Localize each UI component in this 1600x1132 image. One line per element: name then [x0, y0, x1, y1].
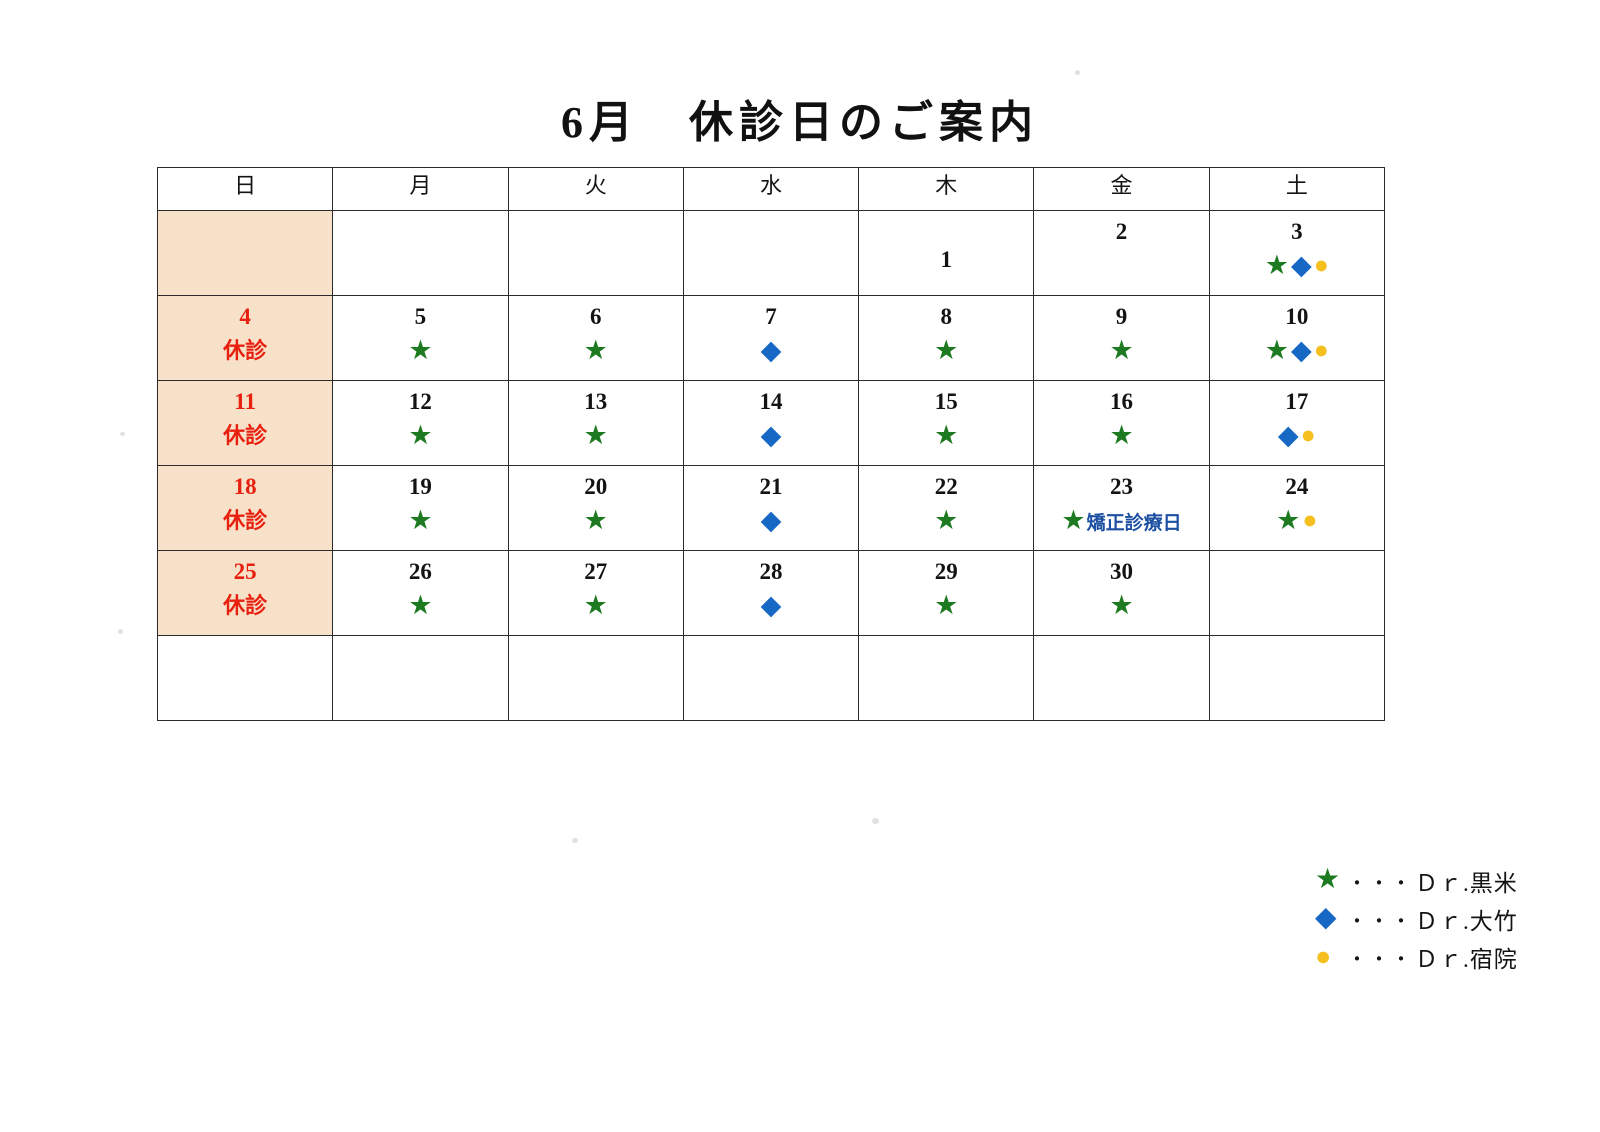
diamond-icon: ◆	[761, 337, 782, 364]
doctor-marks: ★	[333, 413, 507, 453]
doctor-marks: ★	[509, 583, 683, 623]
doctor-marks: ★	[859, 498, 1033, 538]
calendar-day-cell: 15★	[859, 381, 1034, 466]
calendar-day-cell: 23★矯正診療日	[1034, 466, 1209, 551]
day-number: 24	[1210, 466, 1384, 498]
calendar-empty-cell	[508, 636, 683, 721]
calendar-day-cell: 20★	[508, 466, 683, 551]
scan-speckle	[118, 629, 123, 634]
doctor-marks: ★●	[1210, 498, 1384, 538]
star-icon: ★	[1109, 337, 1133, 364]
star-icon: ★	[408, 507, 432, 534]
doctor-marks: ◆	[684, 583, 858, 623]
calendar-day-cell: 6★	[508, 296, 683, 381]
weekday-header-mon: 月	[333, 168, 508, 211]
doctor-marks: ★	[1034, 583, 1208, 623]
star-icon: ★	[934, 337, 958, 364]
calendar-day-cell: 5★	[333, 296, 508, 381]
star-icon: ★	[934, 592, 958, 619]
day-number: 6	[509, 296, 683, 328]
day-number: 11	[158, 381, 332, 413]
closed-label: 休診	[158, 413, 332, 447]
legend-label: Ｄｒ.宿院	[1415, 940, 1518, 974]
legend-dots: ・・・	[1345, 867, 1415, 896]
calendar-day-cell: 9★	[1034, 296, 1209, 381]
calendar-day-cell: 3★◆●	[1209, 211, 1384, 296]
star-icon: ★	[584, 422, 608, 449]
star-icon: ★	[1265, 337, 1289, 364]
day-number: 28	[684, 551, 858, 583]
weekday-header-wed: 水	[683, 168, 858, 211]
star-icon: ★	[408, 592, 432, 619]
scan-speckle	[1075, 70, 1080, 75]
calendar-day-cell: 16★	[1034, 381, 1209, 466]
legend-row: ●・・・Ｄｒ.宿院	[1315, 938, 1565, 976]
calendar-week-row	[158, 636, 1385, 721]
calendar-day-cell: 1	[859, 211, 1034, 296]
weekday-header-tue: 火	[508, 168, 683, 211]
day-number: 15	[859, 381, 1033, 413]
calendar-day-cell: 22★	[859, 466, 1034, 551]
diamond-icon: ◆	[1278, 422, 1299, 449]
calendar-week-row: 4休診5★6★7◆8★9★10★◆●	[158, 296, 1385, 381]
day-number: 3	[1210, 211, 1384, 243]
calendar-day-cell: 30★	[1034, 551, 1209, 636]
calendar-empty-cell	[1209, 636, 1384, 721]
doctor-marks: ★	[859, 328, 1033, 368]
day-number: 14	[684, 381, 858, 413]
calendar-body: 123★◆●4休診5★6★7◆8★9★10★◆●11休診12★13★14◆15★…	[158, 211, 1385, 721]
star-icon: ★	[1109, 422, 1133, 449]
day-number: 2	[1034, 211, 1208, 243]
weekday-header-row: 日 月 火 水 木 金 土	[158, 168, 1385, 211]
calendar-day-cell: 19★	[333, 466, 508, 551]
calendar-empty-cell	[333, 211, 508, 296]
doctor-marks: ★	[333, 328, 507, 368]
calendar-empty-cell	[158, 211, 333, 296]
calendar-week-row: 11休診12★13★14◆15★16★17◆●	[158, 381, 1385, 466]
day-number: 26	[333, 551, 507, 583]
doctor-marks: ★	[1034, 328, 1208, 368]
circle-icon: ●	[1314, 253, 1329, 278]
calendar-empty-cell	[683, 211, 858, 296]
day-number: 7	[684, 296, 858, 328]
doctor-marks: ◆	[684, 498, 858, 538]
scan-speckle	[572, 838, 578, 843]
day-number: 9	[1034, 296, 1208, 328]
day-number: 5	[333, 296, 507, 328]
day-number: 22	[859, 466, 1033, 498]
legend-star-icon: ★	[1315, 867, 1345, 895]
circle-icon: ●	[1302, 508, 1317, 533]
star-icon: ★	[1109, 592, 1133, 619]
star-icon: ★	[584, 507, 608, 534]
calendar-week-row: 123★◆●	[158, 211, 1385, 296]
star-icon: ★	[1061, 507, 1085, 534]
circle-icon: ●	[1315, 943, 1331, 970]
day-number: 19	[333, 466, 507, 498]
star-icon: ★	[584, 592, 608, 619]
star-icon: ★	[1265, 252, 1289, 279]
calendar-empty-cell	[683, 636, 858, 721]
legend-label: Ｄｒ.黒米	[1415, 864, 1518, 898]
calendar-day-cell: 25休診	[158, 551, 333, 636]
closed-label: 休診	[158, 328, 332, 362]
legend-row: ★・・・Ｄｒ.黒米	[1315, 862, 1565, 900]
doctor-marks: ★	[509, 498, 683, 538]
day-number: 29	[859, 551, 1033, 583]
star-icon: ★	[584, 337, 608, 364]
doctor-marks: ★矯正診療日	[1034, 498, 1208, 538]
legend-label: Ｄｒ.大竹	[1415, 902, 1518, 936]
calendar-day-cell: 18休診	[158, 466, 333, 551]
calendar-day-cell: 7◆	[683, 296, 858, 381]
calendar-day-cell: 26★	[333, 551, 508, 636]
doctor-marks: ★◆●	[1210, 328, 1384, 368]
doctor-marks: ★	[333, 498, 507, 538]
calendar-week-row: 25休診26★27★28◆29★30★	[158, 551, 1385, 636]
day-number: 27	[509, 551, 683, 583]
calendar-day-cell: 14◆	[683, 381, 858, 466]
closed-label: 休診	[158, 498, 332, 532]
doctor-marks: ◆	[684, 413, 858, 453]
day-number: 4	[158, 296, 332, 328]
day-number: 30	[1034, 551, 1208, 583]
doctor-marks: ★	[859, 583, 1033, 623]
diamond-icon: ◆	[761, 422, 782, 449]
calendar-day-cell: 17◆●	[1209, 381, 1384, 466]
doctor-marks: ★◆●	[1210, 243, 1384, 283]
legend-circle-icon: ●	[1315, 944, 1345, 971]
weekday-header-fri: 金	[1034, 168, 1209, 211]
legend-dots: ・・・	[1345, 943, 1415, 972]
doctor-marks: ★	[333, 583, 507, 623]
weekday-header-sat: 土	[1209, 168, 1384, 211]
calendar-day-cell: 10★◆●	[1209, 296, 1384, 381]
scan-speckle	[872, 818, 879, 824]
star-icon: ★	[1276, 507, 1300, 534]
doctor-marks: ★	[509, 328, 683, 368]
circle-icon: ●	[1314, 338, 1329, 363]
weekday-header-sun: 日	[158, 168, 333, 211]
calendar-day-cell: 13★	[508, 381, 683, 466]
diamond-icon: ◆	[1315, 904, 1337, 932]
closed-label: 休診	[158, 583, 332, 617]
day-number: 18	[158, 466, 332, 498]
doctor-marks: ★	[859, 413, 1033, 453]
calendar-empty-cell	[1034, 636, 1209, 721]
calendar-table: 日 月 火 水 木 金 土 123★◆●4休診5★6★7◆8★9★10★◆●11…	[157, 167, 1385, 721]
star-icon: ★	[408, 337, 432, 364]
diamond-icon: ◆	[1291, 252, 1312, 279]
day-number: 1	[859, 211, 1033, 271]
calendar-day-cell: 28◆	[683, 551, 858, 636]
day-number: 23	[1034, 466, 1208, 498]
calendar-empty-cell	[158, 636, 333, 721]
diamond-icon: ◆	[1291, 337, 1312, 364]
calendar-week-row: 18休診19★20★21◆22★23★矯正診療日24★●	[158, 466, 1385, 551]
calendar-day-cell: 12★	[333, 381, 508, 466]
day-number: 21	[684, 466, 858, 498]
calendar-empty-cell	[508, 211, 683, 296]
day-number: 13	[509, 381, 683, 413]
day-note-label: 矯正診療日	[1087, 508, 1182, 535]
doctor-marks: ★	[1034, 413, 1208, 453]
day-number: 16	[1034, 381, 1208, 413]
star-icon: ★	[1315, 866, 1340, 894]
diamond-icon: ◆	[761, 592, 782, 619]
calendar-empty-cell	[1209, 551, 1384, 636]
day-number: 20	[509, 466, 683, 498]
legend: ★・・・Ｄｒ.黒米◆・・・Ｄｒ.大竹●・・・Ｄｒ.宿院	[1315, 862, 1565, 976]
calendar-day-cell: 21◆	[683, 466, 858, 551]
scan-speckle	[120, 432, 125, 436]
calendar-empty-cell	[859, 636, 1034, 721]
calendar-day-cell: 27★	[508, 551, 683, 636]
calendar-day-cell: 29★	[859, 551, 1034, 636]
day-number: 8	[859, 296, 1033, 328]
star-icon: ★	[408, 422, 432, 449]
calendar-day-cell: 8★	[859, 296, 1034, 381]
calendar-day-cell: 11休診	[158, 381, 333, 466]
day-number: 17	[1210, 381, 1384, 413]
doctor-marks: ◆●	[1210, 413, 1384, 453]
page-title: 6月 休診日のご案内	[0, 86, 1600, 150]
doctor-marks: ★	[509, 413, 683, 453]
weekday-header-thu: 木	[859, 168, 1034, 211]
star-icon: ★	[934, 507, 958, 534]
circle-icon: ●	[1301, 423, 1316, 448]
star-icon: ★	[934, 422, 958, 449]
legend-diamond-icon: ◆	[1315, 905, 1345, 933]
calendar-empty-cell	[333, 636, 508, 721]
legend-dots: ・・・	[1345, 905, 1415, 934]
day-number: 25	[158, 551, 332, 583]
legend-row: ◆・・・Ｄｒ.大竹	[1315, 900, 1565, 938]
calendar-day-cell: 2	[1034, 211, 1209, 296]
diamond-icon: ◆	[761, 507, 782, 534]
doctor-marks: ◆	[684, 328, 858, 368]
calendar-day-cell: 4休診	[158, 296, 333, 381]
day-number: 10	[1210, 296, 1384, 328]
day-number: 12	[333, 381, 507, 413]
calendar-day-cell: 24★●	[1209, 466, 1384, 551]
